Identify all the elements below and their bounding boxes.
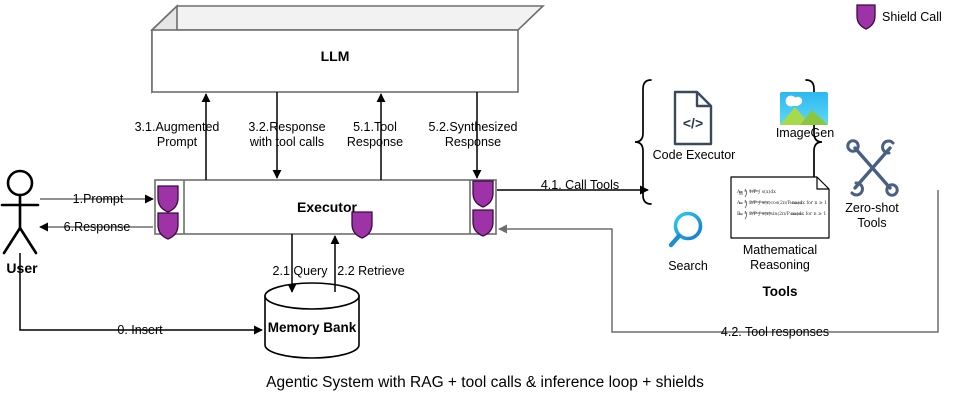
user-actor: [2, 171, 38, 253]
legend-shield-icon: [857, 5, 875, 29]
diagram-caption: Agentic System with RAG + tool calls & i…: [266, 374, 704, 392]
legend-label: Shield Call: [882, 10, 942, 24]
edge-label-call-tools: 4.1. Call Tools: [541, 178, 619, 192]
shield-icon: [158, 213, 178, 239]
tool-label-zero-shot-line2: Tools: [857, 216, 886, 230]
tool-label-code-executor: Code Executor: [653, 148, 736, 162]
edge-label-retrieve: 2.2 Retrieve: [337, 264, 404, 278]
magnifier-icon: [671, 214, 701, 246]
edge-label-synth-response-line2: Response: [445, 135, 501, 149]
tool-label-zero-shot-line1: Zero-shot: [845, 201, 899, 215]
edge-label-augmented-prompt-line1: 3.1.Augmented: [135, 120, 220, 134]
code-document-icon: </>: [675, 92, 711, 144]
user-leg-left: [4, 228, 20, 253]
edge-label-insert: 0. Insert: [117, 323, 162, 337]
tool-label-math-line2: Reasoning: [750, 258, 810, 272]
diagram-canvas: </>: [0, 0, 970, 411]
svg-text:</>: </>: [683, 115, 703, 131]
shield-icon: [352, 212, 372, 238]
edge-label-augmented-prompt-line2: Prompt: [157, 135, 197, 149]
user-head: [8, 171, 32, 195]
memory-bank-label: Memory Bank: [268, 321, 357, 335]
edge-label-tool-response-line2: Response: [347, 135, 403, 149]
tool-label-search: Search: [668, 259, 708, 273]
llm-label: LLM: [321, 49, 350, 63]
edge-label-response-tool-calls-line1: 3.2.Response: [248, 120, 325, 134]
user-label: User: [6, 261, 37, 275]
edge-label-response-tool-calls-line2: with tool calls: [250, 135, 324, 149]
tool-label-imagegen: ImageGen: [776, 126, 834, 140]
crossed-wrenches-icon: [848, 141, 897, 195]
tool-label-math-line1: Mathematical: [743, 243, 817, 257]
executor-label: Executor: [297, 200, 357, 214]
edge-label-tool-responses: 4.2. Tool responses: [721, 325, 829, 339]
svg-text:Aₙ = 2/P ∫ s(x)cos(2π/P nx)dx: Aₙ = 2/P ∫ s(x)cos(2π/P nx)dx for n ≥ 1: [736, 199, 827, 206]
shield-icon: [473, 210, 493, 236]
edge-label-query: 2.1 Query: [273, 264, 328, 278]
llm-cube-top: [152, 6, 543, 30]
edge-label-prompt: 1.Prompt: [73, 192, 124, 206]
shield-icon: [473, 181, 493, 207]
edge-insert: [20, 253, 262, 330]
edge-label-response: 6.Response: [64, 220, 131, 234]
user-leg-right: [20, 228, 36, 253]
svg-text:A₀ = 1/P ∫ s(x)dx: A₀ = 1/P ∫ s(x)dx: [736, 188, 776, 195]
svg-text:Bₙ = 2/P ∫ s(x)sin(2π/P nx)dx: Bₙ = 2/P ∫ s(x)sin(2π/P nx)dx for n ≥ 1: [737, 210, 826, 217]
shield-icon: [158, 186, 178, 212]
diagram-vector-layer: </>: [0, 0, 970, 411]
memory-bank-top: [265, 283, 359, 309]
edge-label-tool-response-line1: 5.1.Tool: [353, 120, 397, 134]
formula-document-icon: A₀ = 1/P ∫ s(x)dx Aₙ = 2/P ∫ s(x)cos(2π/…: [731, 177, 829, 238]
image-picture-icon: [780, 92, 828, 125]
edge-label-synth-response-line1: 5.2.Synthesized: [429, 120, 518, 134]
tools-group-label: Tools: [763, 285, 798, 299]
